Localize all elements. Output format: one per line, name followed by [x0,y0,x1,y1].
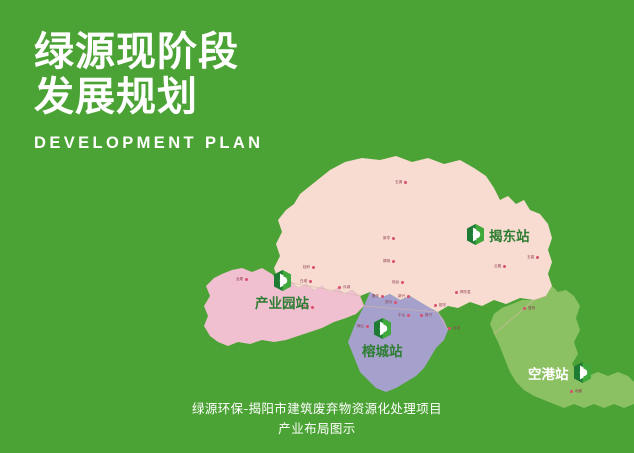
station-label: 揭东站 [489,225,530,245]
city-dot-icon [401,281,404,284]
city-dot-icon [448,327,451,330]
city-dot-icon [536,256,539,259]
city-marker: 炮台 [392,281,404,285]
city-marker: 龙尾 [236,278,248,282]
city-marker: 京冈 [448,327,460,331]
city-label: 登岗 [528,307,535,311]
city-label: 玉窖 [527,256,534,260]
city-marker: 新亨 [383,237,395,241]
station-marker-jiedong[interactable]: 揭东站 [467,224,530,245]
city-dot-icon [404,181,407,184]
city-marker: 榕东 [434,304,446,308]
city-label: 云路 [494,265,501,269]
city-marker: 磐东 [372,295,384,299]
city-dot-icon [309,280,312,283]
city-label: 京冈 [453,327,460,331]
caption-line-1: 绿源环保-揭阳市建筑废弃物资源化处理项目 [0,399,634,419]
city-dot-icon [392,237,395,240]
region-konggang[interactable] [490,286,634,408]
city-label: 西马 [385,301,392,305]
region-konggang-notch [458,330,490,376]
station-label: 空港站 [528,363,569,383]
city-label: 玉湖 [395,181,402,185]
city-dot-icon [392,260,395,263]
city-dot-icon [420,314,423,317]
city-label: 地都 [575,390,582,394]
city-dot-icon [523,307,526,310]
city-marker: 西马 [385,301,397,305]
city-dot-icon [407,295,410,298]
city-label: 月城 [343,286,350,290]
city-marker: 玉湖 [395,181,407,185]
station-marker-chanyeyuan[interactable]: 产业园站 [255,270,309,312]
city-dot-icon [394,301,397,304]
city-marker: 新兴 [420,314,432,318]
city-label: 揭东县 [460,291,471,295]
city-label: 炮台 [392,281,399,285]
city-label: 磐东 [372,295,379,299]
lvyuan-logo-icon [574,362,591,383]
city-marker: 登岗 [523,307,535,311]
lvyuan-logo-icon [374,318,391,339]
city-dot-icon [503,265,506,268]
city-marker: 地都 [570,390,582,394]
city-dot-icon [338,286,341,289]
station-marker-rongcheng[interactable]: 榕城站 [362,318,403,360]
city-label: 龙尾 [236,278,243,282]
city-dot-icon [434,304,437,307]
city-marker: 云路 [494,265,506,269]
city-marker: 玉窖 [527,256,539,260]
city-dot-icon [455,291,458,294]
city-label: 新兴 [425,314,432,318]
city-label: 锡场 [383,260,390,264]
page-subtitle: DEVELOPMENT PLAN [34,134,364,153]
city-dot-icon [570,390,573,393]
city-dot-icon [381,295,384,298]
city-marker: 揭东县 [455,291,471,295]
station-label: 产业园站 [255,292,309,312]
station-label: 榕城站 [362,340,403,360]
city-dot-icon [407,314,410,317]
lvyuan-logo-icon [274,270,291,291]
caption-line-2: 产业布局图示 [0,419,634,439]
page-title-line-2: 发展规划 [34,75,364,120]
city-dot-icon [311,306,314,309]
city-dot-icon [312,266,315,269]
city-marker: 新兴 [398,295,410,299]
city-marker: 锡场 [383,260,395,264]
page-title-line-1: 绿源现阶段 [34,30,364,75]
poster-root: 玉湖 新亨 锡场 云路 玉窖 揭东县 龙尾 桂岭 白塔 月城 霖磐 炮台 磐东 … [0,0,634,453]
caption-block: 绿源环保-揭阳市建筑废弃物资源化处理项目 产业布局图示 [0,399,634,439]
city-marker: 月城 [338,286,350,290]
title-block: 绿源现阶段 发展规划 DEVELOPMENT PLAN [34,30,364,153]
city-label: 新兴 [398,295,405,299]
city-label: 榕东 [439,304,446,308]
lvyuan-logo-icon [467,224,484,245]
city-label: 新亨 [383,237,390,241]
city-dot-icon [245,278,248,281]
station-marker-konggang[interactable]: 空港站 [528,362,591,383]
